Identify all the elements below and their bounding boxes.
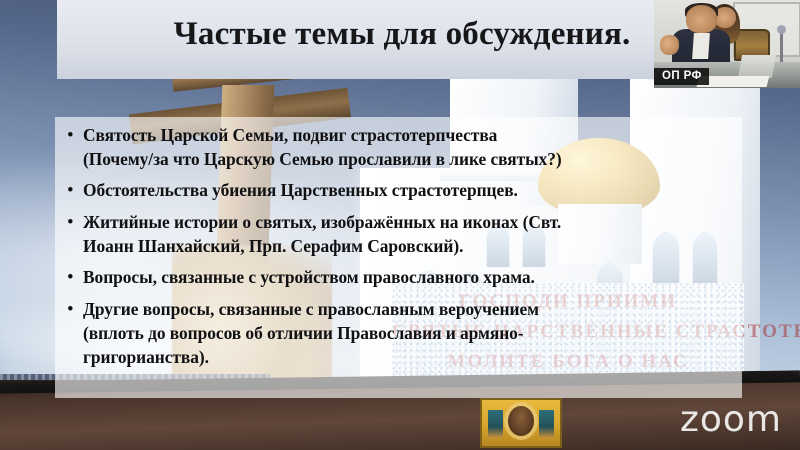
zoom-shared-screen: ГОСПОДИ ПРИИМИ СВЯТЫЕ ЦАРСТВЕННЫЕ СТРАСТ… xyxy=(0,0,800,450)
bullet-marker-icon: • xyxy=(67,297,83,322)
bullet-text: Святость Царской Семьи, подвиг страстоте… xyxy=(83,123,736,171)
video-microphone xyxy=(780,32,783,62)
list-item: • Святость Царской Семьи, подвиг страсто… xyxy=(67,123,736,171)
bullet-text: Обстоятельства убиения Царственных страс… xyxy=(83,178,736,202)
bullet-text: Вопросы, связанные с устройством правосл… xyxy=(83,265,736,289)
list-item: • Другие вопросы, связанные с православн… xyxy=(67,297,736,369)
list-item: • Житийные истории о святых, изображённы… xyxy=(67,210,736,258)
slide-title-banner: Частые темы для обсуждения. xyxy=(57,0,747,79)
list-item: • Вопросы, связанные с устройством право… xyxy=(67,265,736,290)
bullet-text: Житийные истории о святых, изображённых … xyxy=(83,210,736,258)
bullet-text: Другие вопросы, связанные с православным… xyxy=(83,297,736,369)
list-item: • Обстоятельства убиения Царственных стр… xyxy=(67,178,736,203)
icon-christ-face xyxy=(508,406,534,436)
video-person-1-head xyxy=(686,5,717,32)
video-laptop xyxy=(738,55,776,78)
icon-figure-left xyxy=(488,410,503,438)
bullet-marker-icon: • xyxy=(67,178,83,203)
icon-figure-right xyxy=(539,410,554,438)
bullet-marker-icon: • xyxy=(67,210,83,235)
page-title: Частые темы для обсуждения. xyxy=(57,16,747,53)
participant-video-tile[interactable]: ОП РФ xyxy=(654,0,800,88)
orthodox-icon-plaque xyxy=(480,398,562,448)
bullet-marker-icon: • xyxy=(67,265,83,290)
bullet-marker-icon: • xyxy=(67,123,83,148)
slide-content-panel: • Святость Царской Семьи, подвиг страсто… xyxy=(55,117,742,398)
zoom-watermark: zoom xyxy=(680,402,782,438)
bullet-list: • Святость Царской Семьи, подвиг страсто… xyxy=(67,123,736,376)
video-person-1-shirt xyxy=(692,33,710,59)
participant-name-label: ОП РФ xyxy=(654,68,709,85)
video-person-1-hand xyxy=(660,35,679,54)
